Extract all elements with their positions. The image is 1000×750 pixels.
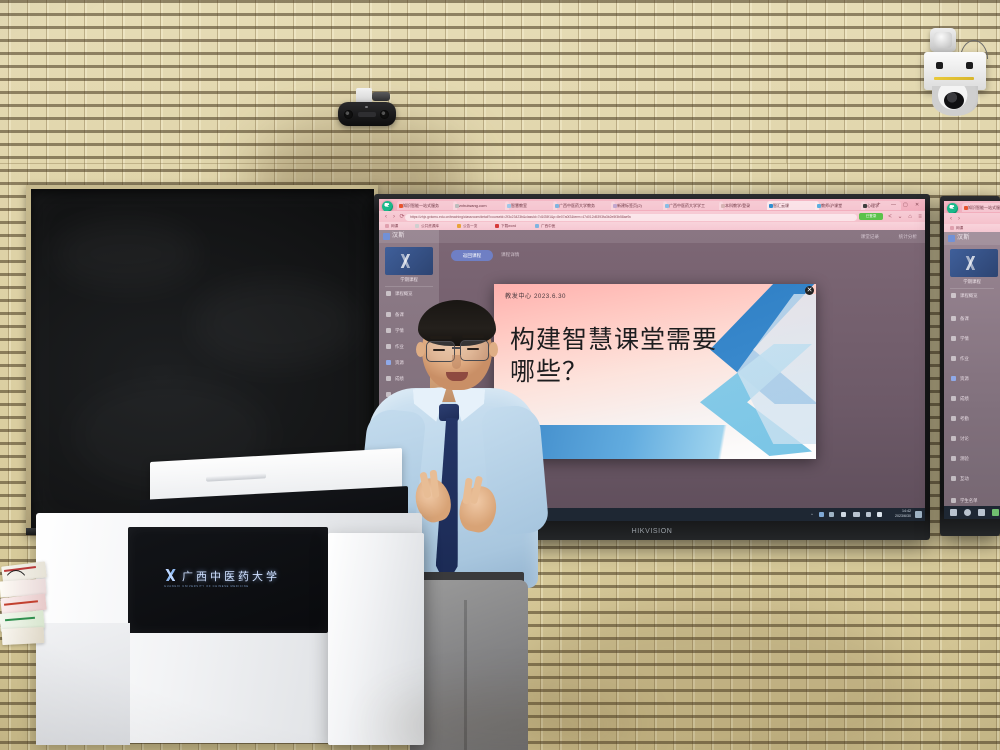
camera-lens [344, 110, 353, 119]
thumbnail-graphic [956, 256, 986, 270]
sidebar-item-interaction[interactable]: 互动 [960, 476, 969, 482]
sidebar-item-quiz[interactable]: 测验 [960, 456, 969, 462]
browser-tab[interactable]: 广西中医药大学学工 [663, 201, 723, 210]
tab-label: zxhuiwang.com [459, 203, 487, 208]
course-thumbnail-caption: 学期课程 [379, 277, 439, 283]
network-icon[interactable] [829, 512, 834, 517]
bookmark-favicon-icon [535, 224, 539, 228]
folder-icon [951, 456, 956, 461]
sidebar-item-homework[interactable]: 作业 [960, 356, 969, 362]
university-name-en: GUANGXI UNIVERSITY OF CHINESE MEDICINE [164, 585, 249, 588]
eye-left [433, 349, 445, 351]
slide-header: 教发中心 2023.6.30 [505, 291, 566, 300]
extension-badge[interactable]: 已登录 [859, 213, 883, 220]
chart-icon [951, 396, 956, 401]
camera-body [338, 102, 396, 126]
close-button[interactable]: ✕ [915, 201, 919, 210]
lectern-front-panel: 广西中医药大学 GUANGXI UNIVERSITY OF CHINESE ME… [128, 527, 328, 633]
grid-icon [951, 376, 956, 381]
volume-icon[interactable] [866, 512, 871, 517]
browser-tab-active[interactable]: 智汇云课 [767, 201, 819, 210]
app-right-label[interactable]: 统计分析 [899, 234, 917, 240]
forward-icon[interactable]: › [391, 214, 397, 220]
tab-label: 广西中医药大学教务 [559, 203, 595, 208]
tab-label: 知识智能一站式服务 [968, 205, 1000, 210]
tab-favicon-icon [399, 204, 403, 208]
user-icon [951, 498, 956, 503]
pen-icon[interactable] [841, 512, 846, 517]
tab-label: 本科教学/登录 [725, 203, 750, 208]
tab-favicon-icon [769, 204, 773, 208]
ear-left [416, 342, 425, 357]
download-icon[interactable]: ⌄ [897, 214, 903, 220]
warning-label [934, 77, 974, 80]
settings-icon[interactable] [964, 509, 971, 516]
browser-logo-icon [947, 203, 958, 214]
explorer-icon[interactable] [992, 509, 999, 516]
tab-favicon-icon [455, 204, 459, 208]
tab-favicon-icon [964, 206, 968, 210]
minimize-button[interactable]: — [891, 201, 896, 210]
browser-tab[interactable]: 新建标签页(2) [611, 201, 667, 210]
bookmark-favicon-icon [385, 224, 389, 228]
bookmark-favicon-icon [415, 224, 419, 228]
browser-tab[interactable]: 本科教学/登录 [719, 201, 771, 210]
ptz-dome-camera [916, 24, 1000, 120]
windows-start-icon[interactable] [950, 509, 957, 516]
bookmark-item[interactable]: 公告一览 [463, 223, 477, 229]
ime-icon[interactable] [877, 512, 882, 517]
camera-lens [944, 92, 964, 109]
tab-label: 智慧教室 [511, 203, 527, 208]
browser-tab[interactable]: zxhuiwang.com [453, 201, 509, 210]
browser-tab[interactable]: 教师/沪课堂 [815, 201, 865, 210]
tab-favicon-icon [817, 204, 821, 208]
sidebar-divider [950, 288, 994, 289]
sidebar-item-prepare[interactable]: 备课 [960, 316, 969, 322]
bookmark-favicon-icon [950, 226, 954, 230]
course-thumbnail[interactable] [950, 249, 998, 277]
thumbnail-graphic [391, 254, 421, 268]
bookmark-favicon-icon [457, 224, 461, 228]
browser-tab[interactable]: 知识智能一站式服务 [397, 201, 457, 210]
tab-favicon-icon [555, 204, 559, 208]
history-icon[interactable]: ⌂ [907, 214, 913, 220]
browser-tab[interactable]: 智慧教室 [505, 201, 557, 210]
lectern-left-column [36, 623, 130, 745]
book-icon [951, 336, 956, 341]
camera-sensor-strip [358, 112, 376, 117]
eye-right [467, 348, 479, 350]
wall-seam [0, 163, 1000, 164]
address-bar[interactable]: https://zhjx.gxtcmu.edu.cn/teaching/clas… [405, 214, 857, 221]
secondary-display-screen: 知识智能一站式服务 ‹ › 网课 汉斯 学期课程 [944, 201, 1000, 519]
share-icon[interactable]: < [887, 214, 893, 220]
course-thumbnail-caption: 学期课程 [944, 279, 1000, 285]
chalk-smudge [51, 219, 201, 289]
bookmarks-bar [379, 222, 925, 230]
bookmark-item[interactable]: 广西中医 [541, 223, 555, 229]
clock-icon [951, 436, 956, 441]
app-sidebar: 学期课程 课程概览 备课 学情 作业 资源 成绩 [944, 232, 1000, 519]
camera-led [365, 106, 368, 108]
tab-favicon-icon [507, 204, 511, 208]
camera-bracket [924, 52, 986, 90]
tab-label: 新建标签页(2) [617, 203, 642, 208]
university-emblem-icon [164, 569, 177, 581]
sidebar-item-overview[interactable]: 课程概览 [960, 293, 978, 299]
browser-logo-icon [382, 201, 393, 212]
bookmark-item[interactable]: 公共资源库 [421, 223, 439, 229]
sidebar-item-learning[interactable]: 学情 [960, 336, 969, 342]
shield-icon[interactable] [819, 512, 824, 517]
tab-favicon-icon [613, 204, 617, 208]
nose [452, 355, 461, 369]
multimedia-lectern: 广西中医药大学 GUANGXI UNIVERSITY OF CHINESE ME… [36, 455, 416, 750]
people-icon [951, 416, 956, 421]
eyebrow-right [462, 335, 484, 338]
camera-lens [380, 110, 389, 119]
wall-seam-vertical [786, 0, 787, 163]
menu-icon[interactable]: ≡ [917, 214, 923, 220]
windows-taskbar [944, 506, 1000, 519]
glasses-bridge [452, 347, 461, 349]
bookmark-item[interactable]: 网课 [956, 225, 963, 231]
chevron-up-icon[interactable]: ^ [809, 512, 815, 518]
poster [2, 627, 45, 645]
bookmark-item[interactable]: 下载word [501, 223, 516, 229]
sidebar-item-grades[interactable]: 成绩 [960, 396, 969, 402]
notifications-icon[interactable] [915, 511, 922, 518]
chat-icon [951, 476, 956, 481]
browser-tab[interactable]: 知识智能一站式服务 [962, 203, 1000, 212]
sidebar-item-discussion[interactable]: 讨论 [960, 436, 969, 442]
camera-housing-cap [934, 32, 952, 48]
back-icon[interactable]: ‹ [948, 216, 954, 222]
chalk-smudge [191, 279, 361, 369]
secondary-browser-window: 知识智能一站式服务 ‹ › 网课 汉斯 学期课程 [944, 201, 1000, 519]
bookmark-favicon-icon [495, 224, 499, 228]
eyebrow-left [430, 336, 452, 339]
wall-tracking-camera [338, 88, 400, 134]
classroom-photo: HIKVISION 知识智能一站式服务 zxhuiwang.com 智慧教室 [0, 0, 1000, 750]
secondary-display: 知识智能一站式服务 ‹ › 网课 汉斯 学期课程 [940, 196, 1000, 536]
sidebar-item-resources[interactable]: 资源 [960, 376, 969, 382]
glasses-lens-right [460, 340, 489, 361]
taskbar-clock-date[interactable]: 2023/6/30 [887, 514, 911, 519]
tab-favicon-icon [863, 204, 867, 208]
bracket-bolt [966, 62, 973, 69]
bookmark-item[interactable]: 网课 [391, 223, 398, 229]
maximize-button[interactable]: ▢ [903, 201, 908, 210]
breadcrumb: 课程详情 [501, 252, 519, 258]
back-icon[interactable]: ‹ [383, 214, 389, 220]
taskview-icon[interactable] [978, 509, 985, 516]
app-right-label[interactable]: 课堂记录 [861, 234, 879, 240]
tab-label: 知识智能一站式服务 [403, 203, 439, 208]
doc-icon [951, 316, 956, 321]
tab-label: 智汇云课 [773, 203, 789, 208]
glasses-lens-left [426, 341, 455, 362]
app-header [379, 230, 925, 243]
browser-tab[interactable]: 广西中医药大学教务 [553, 201, 615, 210]
close-icon[interactable]: ✕ [805, 286, 814, 295]
tab-label: 教师/沪课堂 [821, 203, 842, 208]
overview-icon [951, 293, 956, 298]
tab-favicon-icon [721, 204, 725, 208]
camera-arm [372, 92, 390, 101]
university-name-cn: 广西中医药大学 [182, 568, 280, 584]
list-icon [951, 356, 956, 361]
sidebar-item-attendance[interactable]: 考勤 [960, 416, 969, 422]
new-tab-button[interactable]: + [877, 201, 881, 210]
cable-coil [2, 570, 30, 612]
bracket-bolt [936, 62, 943, 69]
overview-icon [386, 291, 391, 296]
keyboard-icon[interactable] [853, 512, 860, 517]
back-to-course-button[interactable]: 返回课程 [451, 250, 493, 261]
camera-dome [932, 86, 978, 116]
tab-favicon-icon [665, 204, 669, 208]
ear-right [489, 342, 498, 357]
course-thumbnail[interactable] [385, 247, 433, 275]
sidebar-item-overview[interactable]: 课程概览 [395, 291, 413, 297]
tab-label: 广西中医药大学学工 [669, 203, 705, 208]
forward-icon[interactable]: › [956, 216, 962, 222]
sidebar-item-student-list[interactable]: 学生名单 [960, 498, 978, 504]
web-app-body: 汉斯 学期课程 课程概览 备课 学情 作业 资源 [944, 232, 1000, 519]
sidebar-divider [385, 286, 433, 287]
